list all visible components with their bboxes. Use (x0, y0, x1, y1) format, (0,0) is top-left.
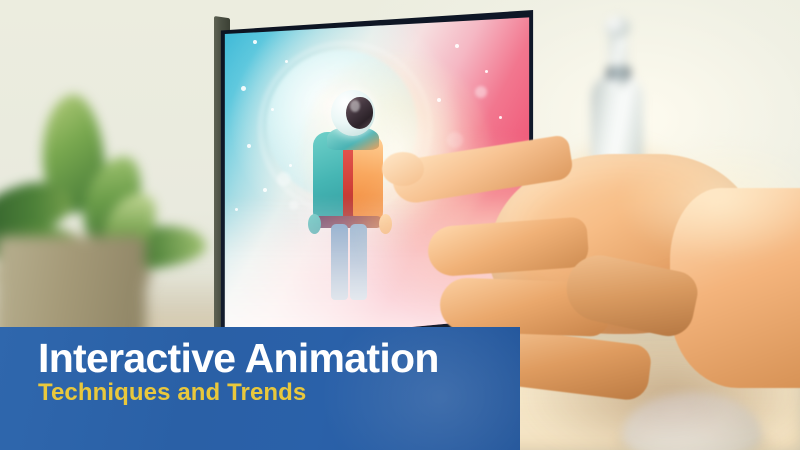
caption-banner: Interactive Animation Techniques and Tre… (0, 327, 520, 450)
banner-title: Interactive Animation (38, 334, 439, 382)
title-card-stage: Interactive Animation Techniques and Tre… (0, 0, 800, 450)
banner-subtitle: Techniques and Trends (38, 379, 306, 408)
hand-fingertip (382, 152, 424, 186)
potted-plant (0, 95, 205, 345)
